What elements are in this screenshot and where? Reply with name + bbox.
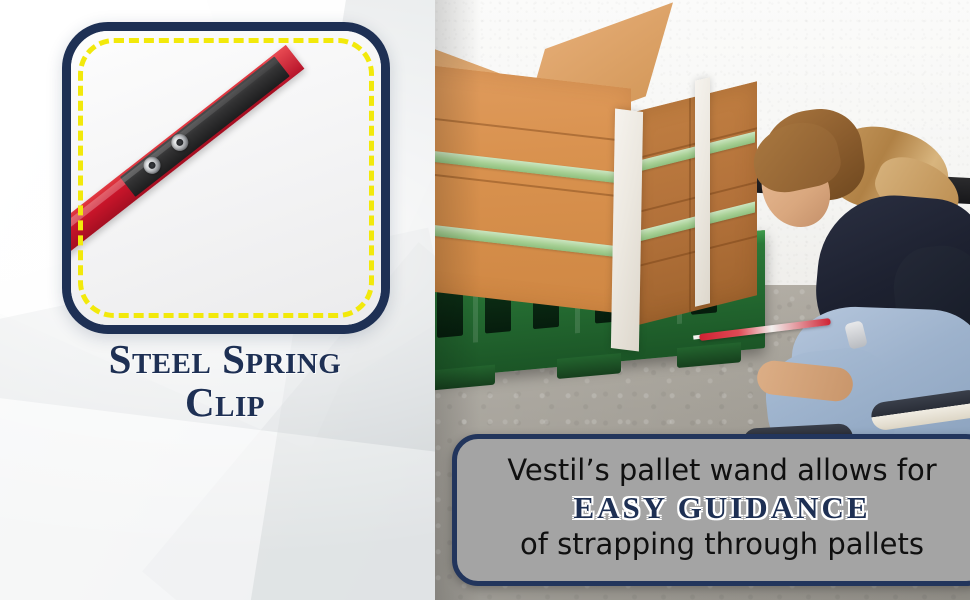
caption-line-2: of strapping through pallets bbox=[520, 528, 924, 562]
corner-protector bbox=[695, 77, 710, 306]
caption-line-1: Vestil’s pallet wand allows for bbox=[507, 454, 936, 488]
product-photo bbox=[71, 31, 381, 325]
wand-body bbox=[71, 45, 304, 272]
worker bbox=[735, 96, 970, 426]
product-card bbox=[62, 22, 390, 334]
promo-image-canvas: Steel Spring Clip Vestil’s pallet wand a… bbox=[0, 0, 970, 600]
corner-protector bbox=[611, 108, 643, 351]
steel-clip bbox=[120, 56, 290, 196]
title-line-2: Clip bbox=[0, 381, 450, 424]
caption-panel: Vestil’s pallet wand allows for EASY GUI… bbox=[452, 434, 970, 586]
page-title: Steel Spring Clip bbox=[0, 338, 450, 425]
caption-highlight: EASY GUIDANCE bbox=[573, 489, 870, 526]
title-line-1: Steel Spring bbox=[109, 336, 342, 382]
carton-seam bbox=[689, 98, 691, 312]
